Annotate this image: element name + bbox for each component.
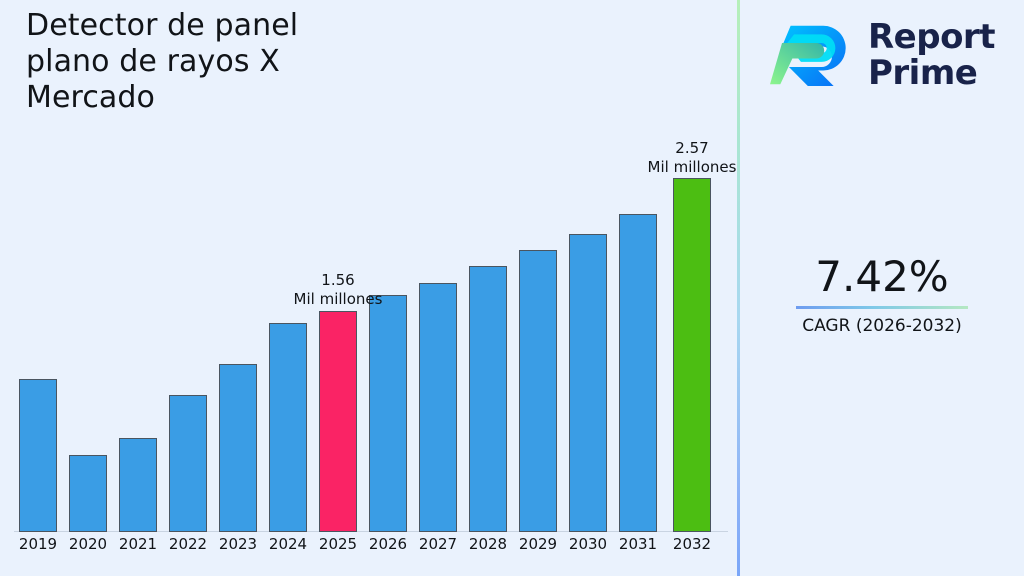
bar-2020[interactable] xyxy=(69,455,107,532)
cagr-block: 7.42% CAGR (2026-2032) xyxy=(740,252,1024,336)
cagr-divider-rule xyxy=(796,306,968,309)
brand-name: Report Prime xyxy=(868,19,995,91)
bar-2028[interactable] xyxy=(469,266,507,532)
bar-2031[interactable] xyxy=(619,214,657,532)
bar-chart-plot: 2019 2020 2021 2022 2023 2024 2025 2026 … xyxy=(0,0,738,576)
cagr-label: CAGR (2026-2032) xyxy=(740,316,1024,336)
bar-2030[interactable] xyxy=(569,234,607,532)
report-prime-logo-icon xyxy=(770,12,856,98)
cagr-value: 7.42% xyxy=(740,252,1024,302)
bar-2026[interactable] xyxy=(369,295,407,532)
chart-panel: Detector de panel plano de rayos X Merca… xyxy=(0,0,738,576)
bar-2032[interactable] xyxy=(673,178,711,532)
x-tick-2032: 2032 xyxy=(662,535,722,553)
x-tick-2031: 2031 xyxy=(608,535,668,553)
bar-2019[interactable] xyxy=(19,379,57,532)
bar-2024[interactable] xyxy=(269,323,307,532)
bar-2029[interactable] xyxy=(519,250,557,532)
brand-logo-block: Report Prime xyxy=(770,12,995,98)
bar-2027[interactable] xyxy=(419,283,457,532)
bar-2025[interactable] xyxy=(319,311,357,532)
bar-2023[interactable] xyxy=(219,364,257,532)
callout-2025: 1.56 Mil millones xyxy=(258,271,418,309)
bar-2022[interactable] xyxy=(169,395,207,532)
brand-panel: Report Prime 7.42% CAGR (2026-2032) xyxy=(740,0,1024,576)
bar-2021[interactable] xyxy=(119,438,157,532)
infographic-root: Detector de panel plano de rayos X Merca… xyxy=(0,0,1024,576)
